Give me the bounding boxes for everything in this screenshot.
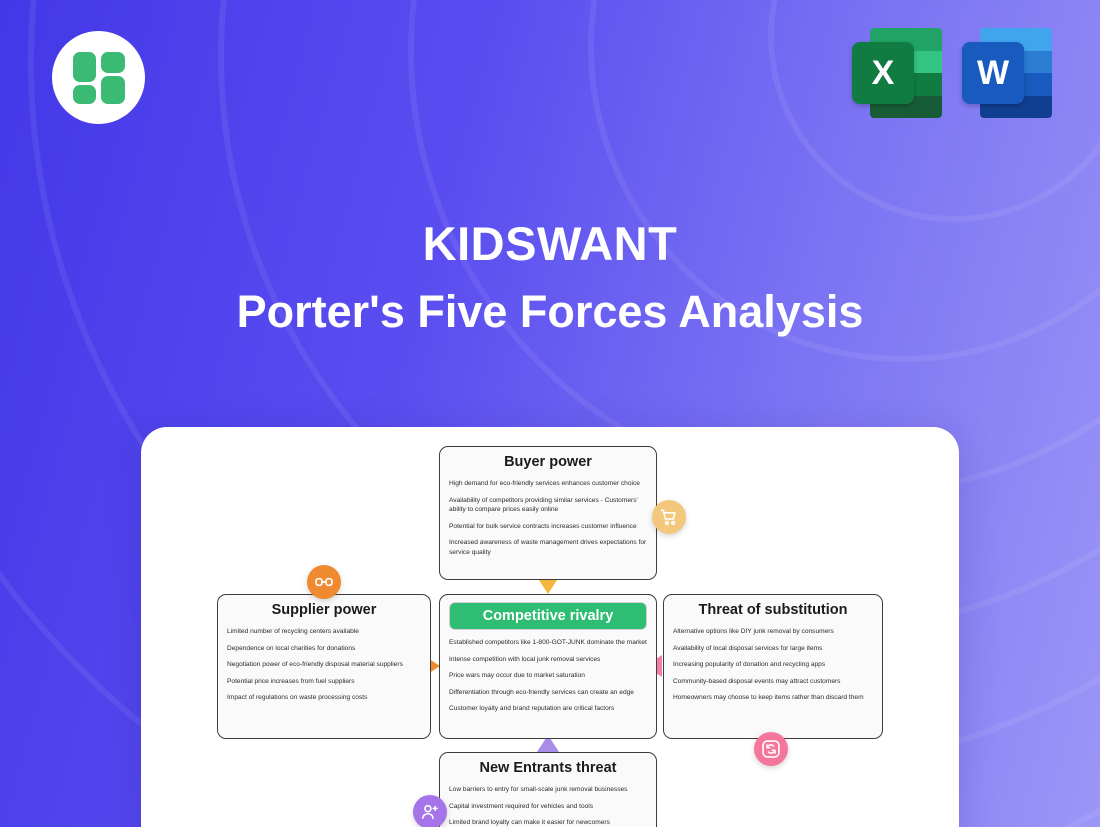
- excel-letter: X: [852, 42, 914, 104]
- box-items: Alternative options like DIY junk remova…: [673, 627, 873, 703]
- list-item: Differentiation through eco-friendly ser…: [449, 688, 647, 698]
- excel-icon[interactable]: X: [852, 28, 942, 118]
- box-items: High demand for eco-friendly services en…: [449, 479, 647, 557]
- force-box-new-entrants-threat[interactable]: New Entrants threat Low barriers to entr…: [439, 752, 657, 827]
- logo-tile-2: [101, 52, 125, 73]
- box-items: Limited number of recycling centers avai…: [227, 627, 421, 703]
- five-forces-diagram: Buyer power High demand for eco-friendly…: [141, 427, 959, 827]
- list-item: Price wars may occur due to market satur…: [449, 671, 647, 681]
- logo-tile-1: [73, 52, 96, 82]
- logo-tile-4: [101, 76, 125, 104]
- list-item: Dependence on local charities for donati…: [227, 644, 421, 654]
- box-heading: Competitive rivalry: [449, 602, 647, 630]
- list-item: Intense competition with local junk remo…: [449, 655, 647, 665]
- box-heading: Supplier power: [227, 602, 421, 618]
- export-icons: X W: [852, 28, 1052, 118]
- link-chain-icon: [307, 565, 341, 599]
- force-box-threat-of-substitution[interactable]: Threat of substitution Alternative optio…: [663, 594, 883, 739]
- list-item: Potential for bulk service contracts inc…: [449, 522, 647, 532]
- list-item: Limited brand loyalty can make it easier…: [449, 818, 647, 827]
- list-item: Alternative options like DIY junk remova…: [673, 627, 873, 637]
- list-item: Availability of local disposal services …: [673, 644, 873, 654]
- force-box-buyer-power[interactable]: Buyer power High demand for eco-friendly…: [439, 446, 657, 580]
- brand-title: KIDSWANT: [0, 218, 1100, 270]
- list-item: Negotiation power of eco-friendly dispos…: [227, 660, 421, 670]
- logo-tile-3: [73, 85, 96, 104]
- list-item: Capital investment required for vehicles…: [449, 802, 647, 812]
- force-box-competitive-rivalry[interactable]: Competitive rivalry Established competit…: [439, 594, 657, 739]
- box-items: Established competitors like 1-800-GOT-J…: [449, 638, 647, 714]
- list-item: Limited number of recycling centers avai…: [227, 627, 421, 637]
- add-user-icon: [413, 795, 447, 827]
- list-item: High demand for eco-friendly services en…: [449, 479, 647, 489]
- list-item: Increasing popularity of donation and re…: [673, 660, 873, 670]
- list-item: Impact of regulations on waste processin…: [227, 693, 421, 703]
- page-title: Porter's Five Forces Analysis: [0, 287, 1100, 337]
- box-heading: Threat of substitution: [673, 602, 873, 618]
- title-block: KIDSWANT Porter's Five Forces Analysis: [0, 218, 1100, 336]
- word-icon[interactable]: W: [962, 28, 1052, 118]
- list-item: Community-based disposal events may attr…: [673, 677, 873, 687]
- sync-refresh-icon: [754, 732, 788, 766]
- list-item: Established competitors like 1-800-GOT-J…: [449, 638, 647, 648]
- box-heading: Buyer power: [449, 454, 647, 470]
- slide-canvas: X W KIDSWANT Porter's Five Forces Analys…: [0, 0, 1100, 827]
- shopping-cart-icon: [652, 500, 686, 534]
- diagram-card: Buyer power High demand for eco-friendly…: [141, 427, 959, 827]
- list-item: Low barriers to entry for small-scale ju…: [449, 785, 647, 795]
- list-item: Potential price increases from fuel supp…: [227, 677, 421, 687]
- force-box-supplier-power[interactable]: Supplier power Limited number of recycli…: [217, 594, 431, 739]
- list-item: Increased awareness of waste management …: [449, 538, 647, 557]
- list-item: Customer loyalty and brand reputation ar…: [449, 704, 647, 714]
- word-letter: W: [962, 42, 1024, 104]
- list-item: Homeowners may choose to keep items rath…: [673, 693, 873, 703]
- box-heading: New Entrants threat: [449, 760, 647, 776]
- logo-grid: [73, 52, 125, 104]
- box-items: Low barriers to entry for small-scale ju…: [449, 785, 647, 827]
- list-item: Availability of competitors providing si…: [449, 496, 647, 515]
- grid-logo-icon: [52, 31, 145, 124]
